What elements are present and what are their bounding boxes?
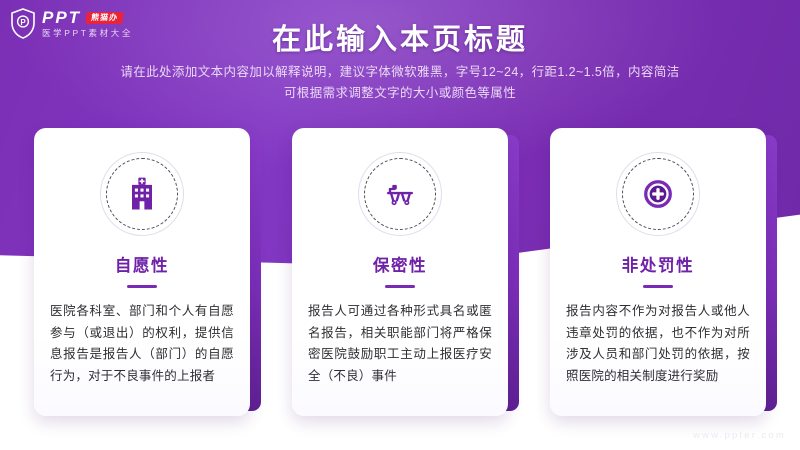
hospital-building-icon	[100, 152, 184, 236]
card-title-rule	[385, 285, 415, 288]
svg-text:P: P	[20, 18, 26, 27]
content-card[interactable]: 保密性 报告人可通过各种形式具名或匿名报告，相关职能部门将严格保密医院鼓励职工主…	[292, 128, 508, 416]
subtitle-line-1: 请在此处添加文本内容加以解释说明，建议字体微软雅黑，字号12~24，行距1.2~…	[0, 62, 800, 83]
brand-logo[interactable]: P PPT 熊猫办 医学PPT素材大全	[10, 8, 133, 39]
medical-cross-circle-icon	[616, 152, 700, 236]
hospital-stretcher-icon	[358, 152, 442, 236]
card-edge-slab	[245, 135, 261, 411]
card-title-rule	[643, 285, 673, 288]
card-title-rule	[127, 285, 157, 288]
brand-badge: 熊猫办	[85, 12, 124, 24]
card-list: 自愿性 医院各科室、部门和个人有自愿参与（或退出）的权利，提供信息报告是报告人（…	[0, 128, 800, 428]
subtitle-line-2: 可根据需求调整文字的大小或颜色等属性	[0, 83, 800, 104]
site-watermark: www.ppter.com	[693, 430, 786, 441]
card-title: 非处罚性	[622, 252, 694, 276]
card-edge-slab	[503, 135, 519, 411]
card-edge-slab	[761, 135, 777, 411]
brand-tagline: 医学PPT素材大全	[42, 29, 133, 38]
card-body: 报告人可通过各种形式具名或匿名报告，相关职能部门将严格保密医院鼓励职工主动上报医…	[308, 301, 492, 387]
card-body: 医院各科室、部门和个人有自愿参与（或退出）的权利，提供信息报告是报告人（部门）的…	[50, 301, 234, 387]
card-title: 自愿性	[115, 252, 169, 276]
card-title: 保密性	[373, 252, 427, 276]
shield-icon: P	[10, 8, 36, 39]
card-body: 报告内容不作为对报告人或他人违章处罚的依据，也不作为对所涉及人员和部门处罚的依据…	[566, 301, 750, 387]
brand-wordmark: PPT	[42, 9, 81, 26]
content-card[interactable]: 自愿性 医院各科室、部门和个人有自愿参与（或退出）的权利，提供信息报告是报告人（…	[34, 128, 250, 416]
page-subtitle: 请在此处添加文本内容加以解释说明，建议字体微软雅黑，字号12~24，行距1.2~…	[0, 62, 800, 104]
content-card[interactable]: 非处罚性 报告内容不作为对报告人或他人违章处罚的依据，也不作为对所涉及人员和部门…	[550, 128, 766, 416]
